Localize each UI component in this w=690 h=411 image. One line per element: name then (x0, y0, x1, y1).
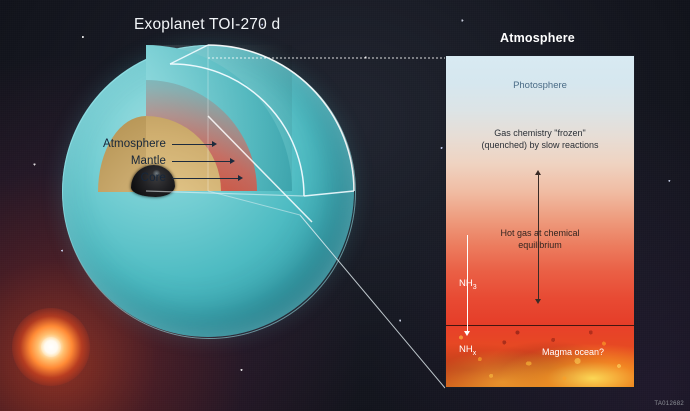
label-core: Core (110, 172, 166, 184)
frozen-chemistry-line2: (quenched) by slow reactions (481, 140, 598, 150)
magma-ocean-label: Magma ocean? (542, 347, 604, 357)
photosphere-label: Photosphere (446, 80, 634, 91)
frozen-chemistry-line1: Gas chemistry "frozen" (494, 128, 585, 138)
equilibrium-line1: Hot gas at chemical (500, 228, 579, 238)
figure-canvas: Atmosphere Mantle Core Exoplanet TOI-270… (0, 0, 690, 411)
image-credit-code: TA012682 (654, 401, 684, 407)
ammonia-top-formula: NH (459, 278, 473, 289)
panel-title: Atmosphere (500, 31, 575, 45)
ammonia-bottom-subscript: x (473, 350, 477, 357)
atmosphere-panel: Photosphere Gas chemistry "frozen" (quen… (445, 55, 635, 388)
leader-mantle (172, 161, 232, 162)
ammonia-bottom-label: NHx (459, 344, 476, 357)
equilibrium-line2: equilibrium (518, 240, 562, 250)
ammonia-transport-arrow-head (464, 331, 470, 336)
chemical-equilibrium-label: Hot gas at chemical equilibrium (446, 228, 634, 251)
frozen-chemistry-label: Gas chemistry "frozen" (quenched) by slo… (446, 128, 634, 151)
leader-arrow-core (238, 175, 243, 181)
leader-arrow-atmosphere (212, 141, 217, 147)
ammonia-transport-arrow-shaft (467, 235, 468, 333)
label-atmosphere: Atmosphere (80, 138, 166, 150)
figure-title: Exoplanet TOI-270 d (134, 16, 280, 34)
leader-arrow-mantle (230, 158, 235, 164)
leader-core (172, 178, 240, 179)
ammonia-bottom-formula: NH (459, 344, 473, 355)
leader-atmosphere (172, 144, 214, 145)
magma-surface-boundary (446, 325, 634, 326)
equilibrium-arrow-down-head (535, 299, 541, 304)
label-mantle: Mantle (96, 155, 166, 167)
ammonia-top-subscript: 3 (473, 284, 477, 291)
host-star-core (41, 337, 61, 357)
